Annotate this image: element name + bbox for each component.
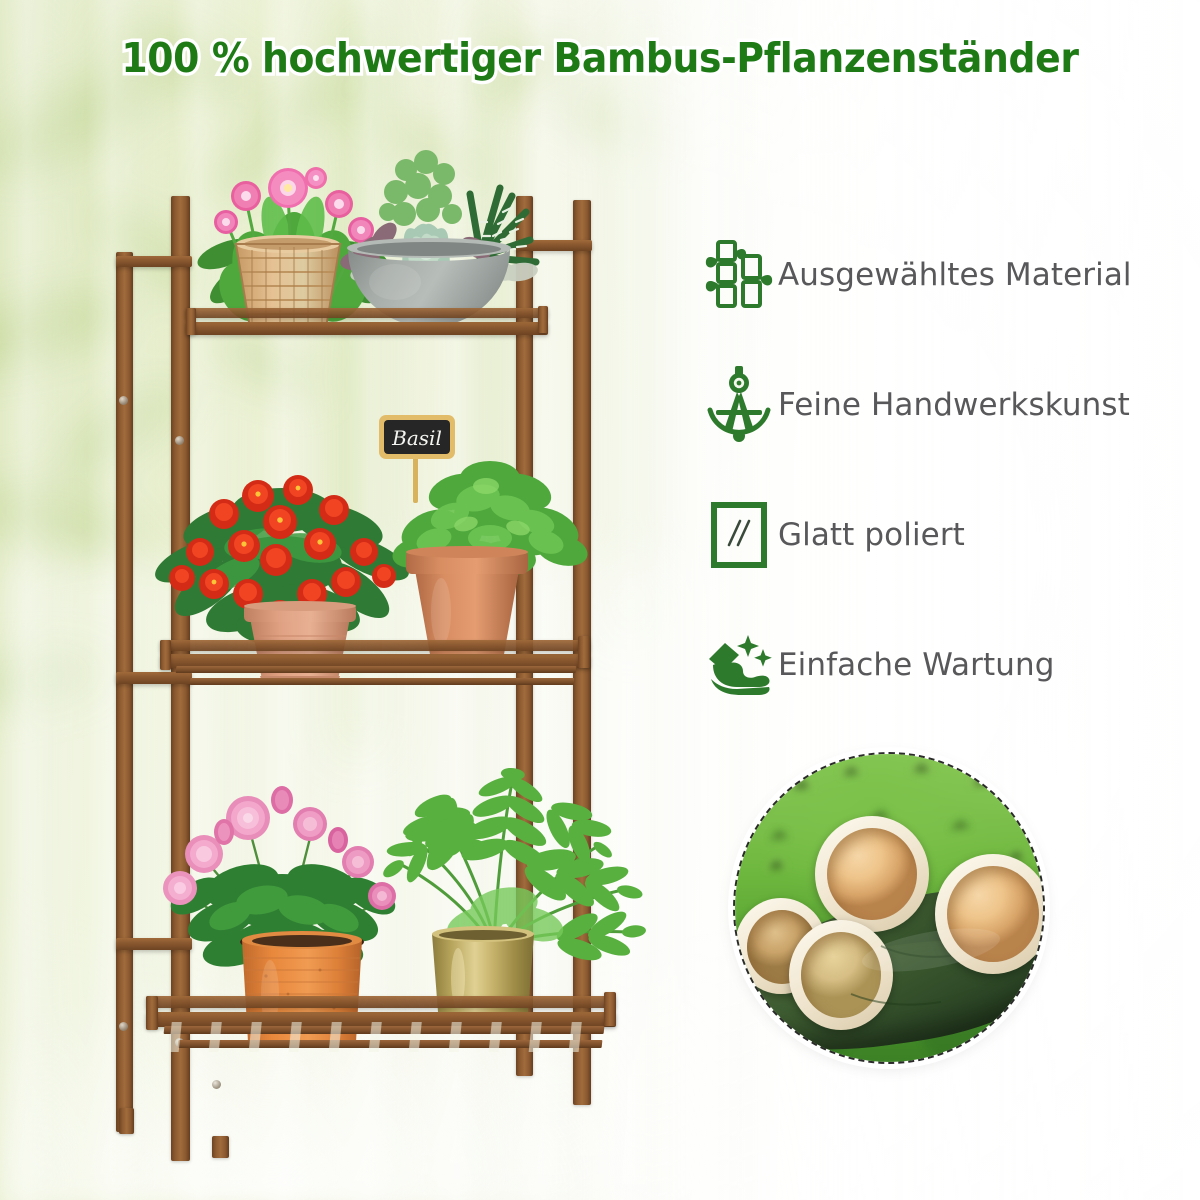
stand-foot-front-inner	[212, 1136, 229, 1158]
feature-item-maintenance: Einfache Wartung	[700, 622, 1170, 708]
drafting-compass-icon	[700, 366, 778, 444]
plant-label-text: Basil	[391, 426, 442, 450]
inset-photo	[733, 752, 1045, 1064]
feature-label: Feine Handwerkskunst	[778, 387, 1130, 423]
shelf-top-surface	[186, 308, 548, 318]
shelf-top-front-edge	[186, 322, 548, 335]
stand-foot-front-outer	[119, 1108, 134, 1134]
feature-label: Einfache Wartung	[778, 647, 1055, 683]
feature-label: Ausgewähltes Material	[778, 257, 1132, 293]
shelf-middle-surface	[160, 640, 590, 651]
shelf-top-side-left	[186, 308, 196, 335]
stand-rail-front-top	[116, 256, 192, 267]
screw	[175, 436, 184, 445]
feature-label: Glatt poliert	[778, 517, 965, 553]
shelf-middle-side-right	[578, 636, 590, 668]
inset-culm-shading	[733, 752, 1045, 1064]
product-marketing-image: 100 % hochwertiger Bambus-Pflanzenstände…	[0, 0, 1200, 1200]
shelf-top-side-right	[538, 306, 548, 333]
polished-surface-icon	[700, 501, 778, 569]
screw	[212, 1080, 221, 1089]
screw	[119, 1022, 128, 1031]
hand-sponge-sparkle-icon	[700, 633, 778, 697]
shelf-bottom-surface	[146, 996, 616, 1008]
bamboo-detail-inset	[733, 752, 1045, 1064]
feature-item-polished: Glatt poliert	[700, 492, 1170, 578]
feature-item-material: Ausgewähltes Material	[700, 232, 1170, 318]
screw	[119, 396, 128, 405]
bamboo-stalks-icon	[700, 238, 778, 312]
shelf-middle-slat	[176, 666, 577, 673]
plant-stand-photo: Basil	[0, 0, 700, 1200]
shelf-middle-slat	[190, 678, 575, 685]
feature-item-craftsmanship: Feine Handwerkskunst	[700, 362, 1170, 448]
feature-list: Ausgewähltes Material	[700, 232, 1170, 752]
stand-rail-front-middle	[116, 672, 192, 684]
shelf-middle-side-left	[160, 640, 171, 670]
stand-post-front-outer	[116, 252, 133, 1132]
jade-plant	[379, 150, 462, 226]
